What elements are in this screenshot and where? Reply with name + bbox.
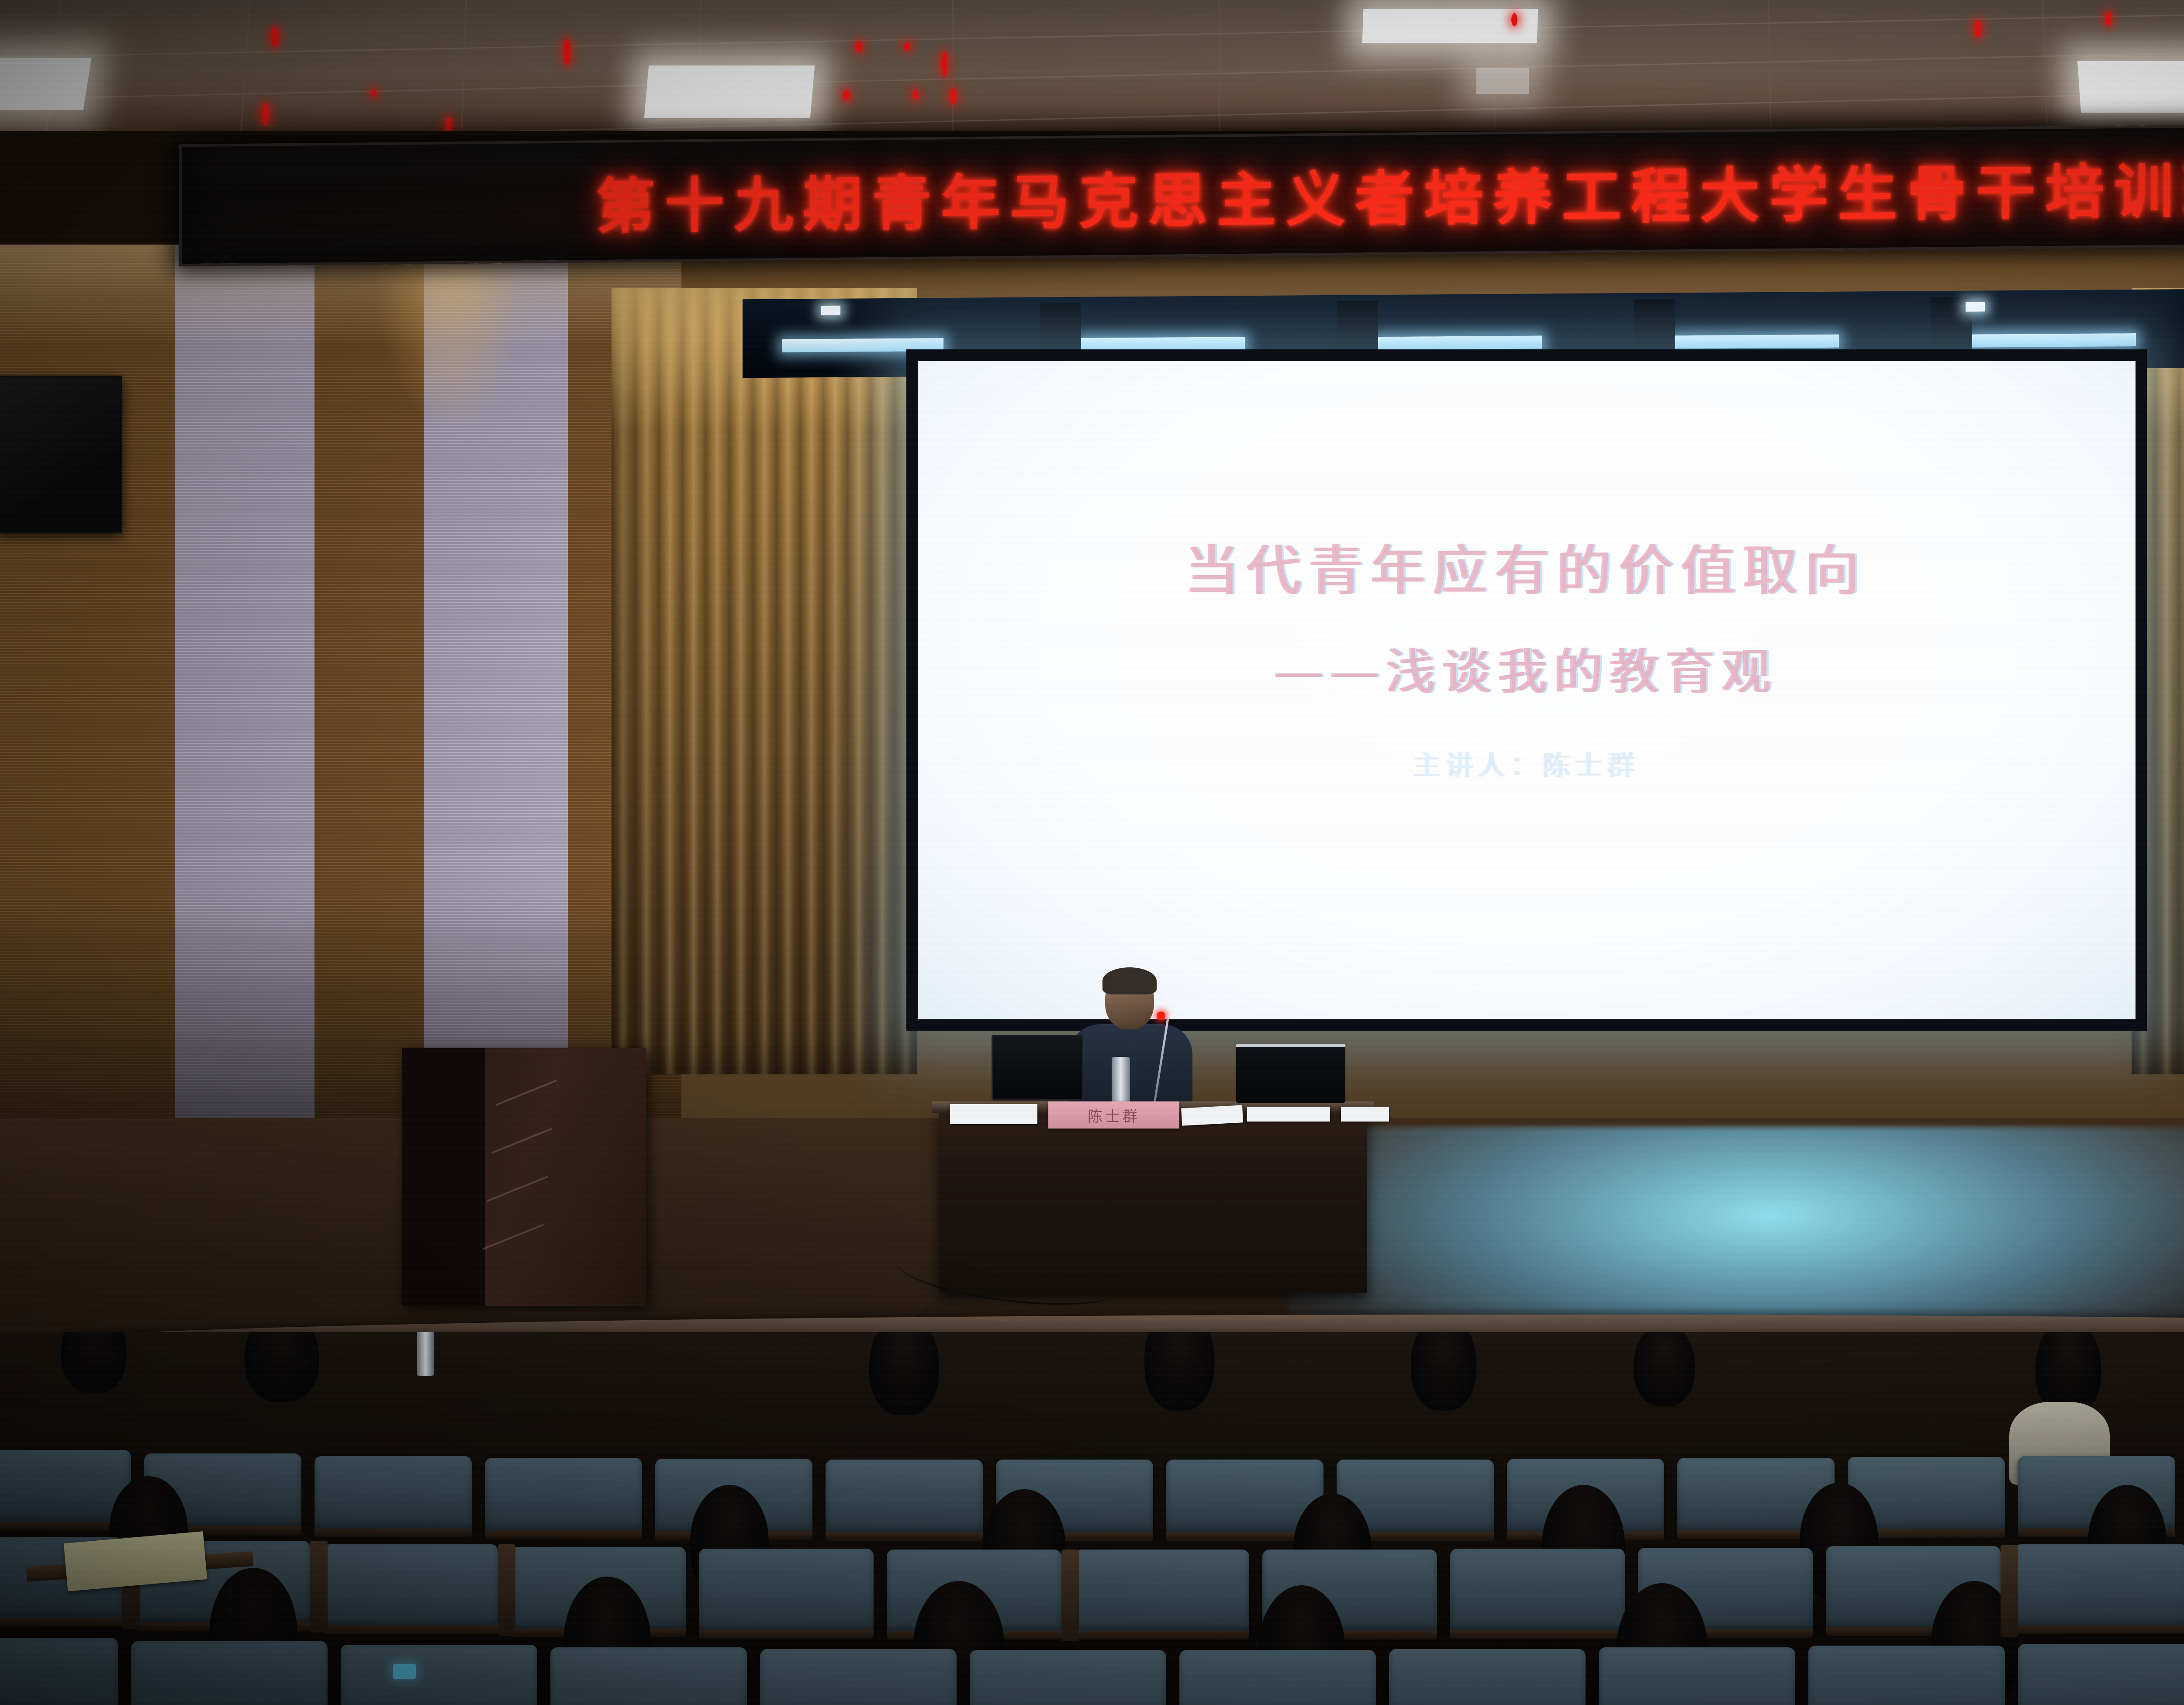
ceiling-light-panel [1362, 9, 1538, 43]
projection-screen-frame: 当代青年应有的价值取向 ——浅谈我的教育观 主讲人：陈士群 [906, 349, 2147, 1031]
auditorium-scene: 当代青年应有的价值取向 ——浅谈我的教育观 主讲人：陈士群 第十九期青年马克思主… [0, 0, 2184, 1705]
wall-speaker-icon [0, 376, 122, 533]
audience-seat [1075, 1550, 1249, 1633]
stage-curtain-left [612, 288, 917, 1074]
seat-armrest [1061, 1550, 1079, 1641]
laptop-icon [992, 1035, 1083, 1101]
audience-head [1411, 1332, 1476, 1411]
audience-seat [1389, 1649, 1586, 1705]
speaker-name-card-text: 陈士群 [1088, 1104, 1140, 1126]
audience-seat [826, 1460, 983, 1534]
ceiling [0, 0, 2184, 131]
audience-head [1634, 1332, 1695, 1406]
water-bottle-icon [417, 1332, 434, 1376]
paper-sheet [950, 1104, 1037, 1124]
podium [402, 1048, 646, 1306]
stage-spotlight [1966, 302, 1985, 311]
audience-seat [1808, 1646, 2005, 1705]
stage-spotlight [821, 306, 840, 315]
led-banner-text: 第十九期青年马克思主义者培养工程大学生骨干培训班专题报告 [596, 140, 2184, 244]
slide-subtitle: ——浅谈我的教育观 [1275, 632, 1778, 703]
microphone-indicator-icon [1157, 1011, 1165, 1020]
audience-seat [1450, 1549, 1625, 1632]
audience-seat [1179, 1650, 1376, 1705]
ceiling-light-panel [644, 66, 815, 118]
audience-seat [314, 1456, 472, 1530]
seat-armrest [498, 1544, 515, 1636]
laptop-icon [1236, 1044, 1345, 1103]
phone-screen-glow [393, 1664, 416, 1679]
slide-title: 当代青年应有的价值取向 [1185, 527, 1868, 605]
audience-seat [485, 1458, 642, 1532]
ceiling-light-panel [2077, 61, 2184, 113]
seat-armrest [310, 1541, 328, 1633]
audience-head [869, 1332, 939, 1415]
audience-head [245, 1332, 319, 1402]
water-bottle-icon [1112, 1057, 1130, 1103]
audience-seat [131, 1641, 328, 1705]
audience-seat [550, 1647, 747, 1705]
speaker-hair [1102, 967, 1157, 994]
seat-armrest [2001, 1545, 2018, 1637]
paper-sheet [1247, 1107, 1330, 1122]
audience-seat [2014, 1544, 2184, 1627]
audience-seat [341, 1645, 537, 1705]
paper-sheet [1181, 1105, 1243, 1125]
audience-head [1144, 1332, 1214, 1411]
audience-seat [323, 1544, 498, 1627]
audience-seat [2018, 1644, 2184, 1705]
led-banner: 第十九期青年马克思主义者培养工程大学生骨干培训班专题报告 [179, 118, 2184, 267]
audience-seat [0, 1638, 118, 1705]
slide-presenter-line: 主讲人：陈士群 [1413, 743, 1640, 783]
audience-seating [0, 1332, 2184, 1705]
ceiling-light-panel [0, 58, 92, 110]
audience-seat [699, 1549, 874, 1632]
audience-seat [760, 1649, 957, 1705]
audience-seat [970, 1650, 1166, 1705]
speaker-name-card: 陈士群 [1048, 1101, 1179, 1129]
audience-seat [1599, 1647, 1795, 1705]
ceiling-light-panel [1476, 68, 1529, 94]
projection-screen: 当代青年应有的价值取向 ——浅谈我的教育观 主讲人：陈士群 [918, 361, 2136, 1019]
audience-head [61, 1332, 127, 1393]
paper-sheet [1341, 1107, 1389, 1122]
